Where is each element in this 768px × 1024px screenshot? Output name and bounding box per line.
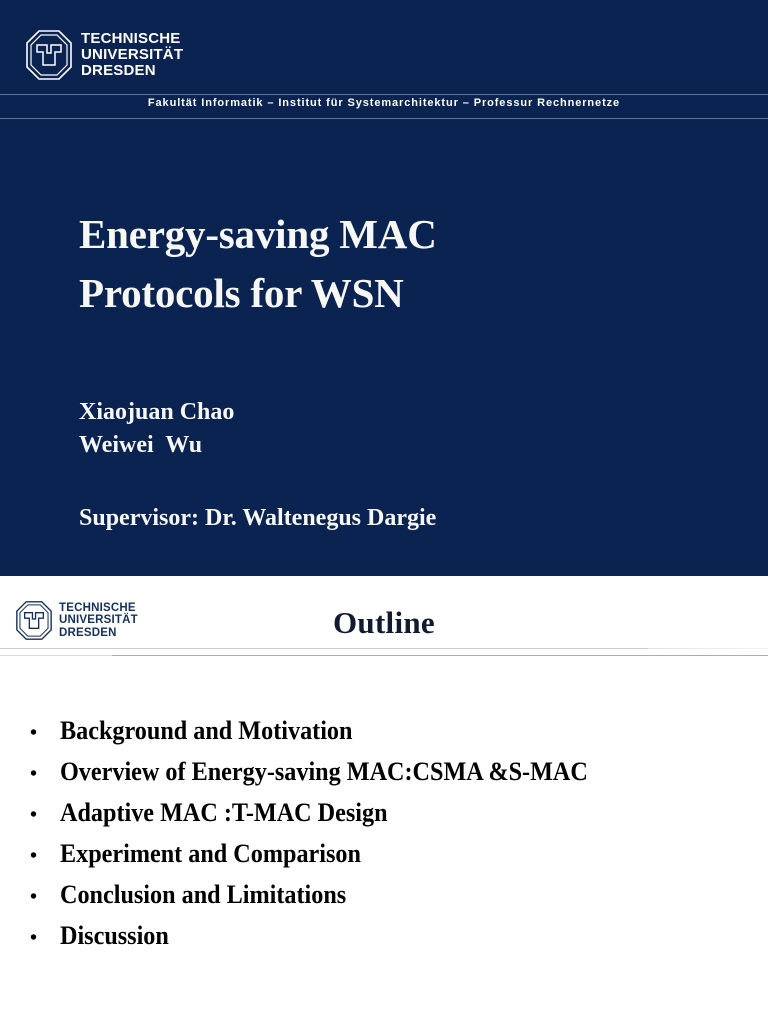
header-divider-lower-accent — [112, 655, 768, 656]
logo-line-universitaet: UNIVERSITÄT — [81, 47, 183, 63]
tu-dresden-logo-light: TECHNISCHE UNIVERSITÄT DRESDEN — [26, 30, 183, 80]
bullet-dot-icon: • — [30, 805, 60, 825]
outline-bullet-list: • Background and Motivation • Overview o… — [30, 716, 750, 962]
presentation-title: Energy-saving MAC Protocols for WSN — [79, 205, 679, 324]
list-item-label: Experiment and Comparison — [60, 839, 361, 869]
slide-heading: Outline — [0, 605, 768, 641]
presentation-title-line2: Protocols for WSN — [79, 264, 679, 323]
tu-dresden-logo-wordmark-light: TECHNISCHE UNIVERSITÄT DRESDEN — [81, 31, 183, 79]
bullet-dot-icon: • — [30, 846, 60, 866]
list-item: • Adaptive MAC :T-MAC Design — [30, 798, 750, 839]
bullet-dot-icon: • — [30, 723, 60, 743]
list-item: • Conclusion and Limitations — [30, 880, 750, 921]
list-item: • Background and Motivation — [30, 716, 750, 757]
tu-dresden-octagon-icon — [26, 30, 72, 80]
outline-slide: TECHNISCHE UNIVERSITÄT DRESDEN Outline •… — [0, 576, 768, 1024]
header-divider-upper — [0, 648, 648, 649]
supervisor-line: Supervisor: Dr. Waltenegus Dargie — [79, 505, 436, 532]
author-list: Xiaojuan Chao Weiwei Wu — [79, 396, 234, 462]
list-item-label: Background and Motivation — [60, 716, 352, 746]
faculty-banner-rule-top — [0, 94, 768, 95]
list-item-label: Adaptive MAC :T-MAC Design — [60, 798, 388, 828]
bullet-dot-icon: • — [30, 764, 60, 784]
list-item: • Discussion — [30, 921, 750, 962]
logo-line-technische: TECHNISCHE — [81, 31, 183, 47]
list-item-label: Discussion — [60, 921, 169, 951]
list-item-label: Conclusion and Limitations — [60, 880, 346, 910]
bullet-dot-icon: • — [30, 928, 60, 948]
presentation-title-line1: Energy-saving MAC — [79, 205, 679, 264]
bullet-dot-icon: • — [30, 887, 60, 907]
faculty-banner-text: Fakultät Informatik – Institut für Syste… — [0, 97, 768, 109]
list-item: • Overview of Energy-saving MAC:CSMA &S-… — [30, 757, 750, 798]
logo-line-dresden: DRESDEN — [81, 63, 183, 79]
header-divider-upper-fade — [648, 648, 768, 649]
title-slide: TECHNISCHE UNIVERSITÄT DRESDEN Fakultät … — [0, 0, 768, 576]
list-item-label: Overview of Energy-saving MAC:CSMA &S-MA… — [60, 757, 588, 787]
list-item: • Experiment and Comparison — [30, 839, 750, 880]
author-name-1: Xiaojuan Chao — [79, 396, 234, 429]
author-name-2: Weiwei Wu — [79, 429, 234, 462]
faculty-banner-rule-bottom — [0, 118, 768, 119]
